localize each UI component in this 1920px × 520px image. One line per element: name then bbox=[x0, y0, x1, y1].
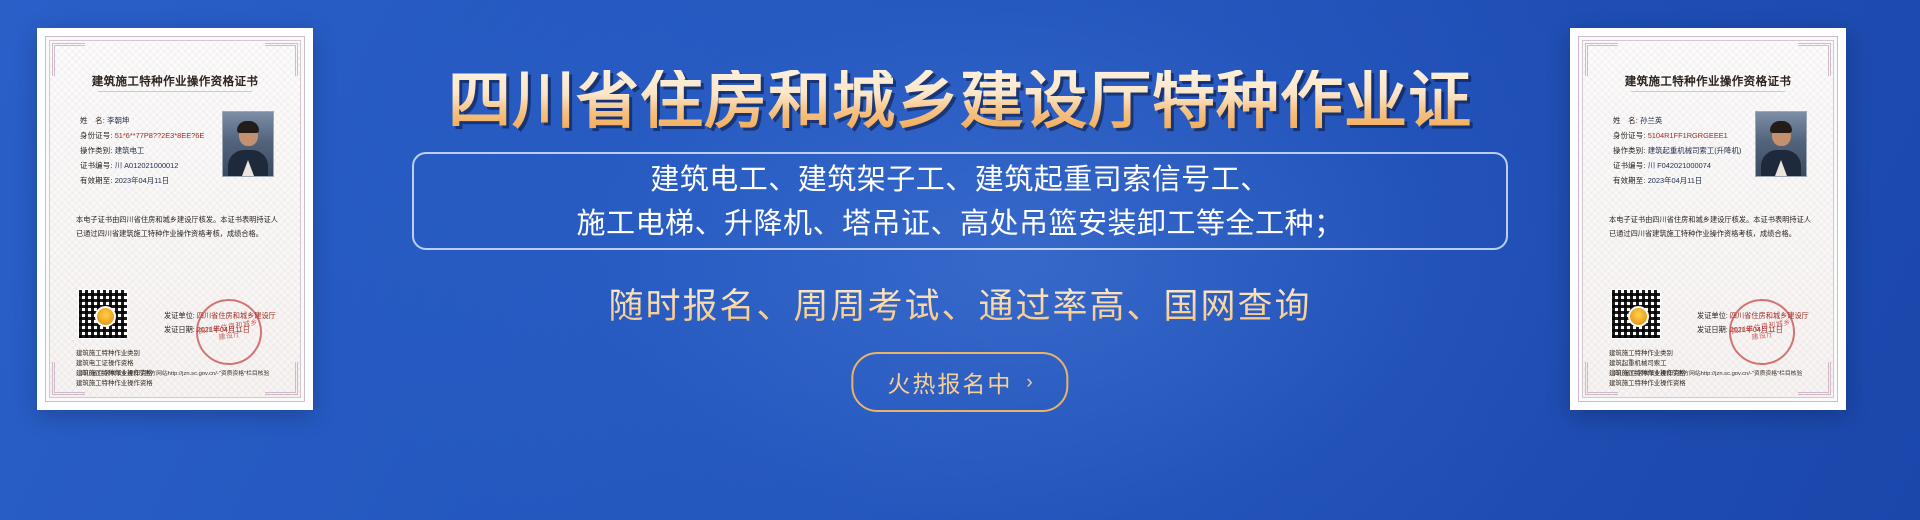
certificate-body-text: 本电子证书由四川省住房和城乡建设厅核发。本证书表明持证人已通过四川省建筑施工特种… bbox=[76, 213, 278, 241]
certificate-title-rule bbox=[98, 91, 252, 92]
field-value-validity: 2023年04月11日 bbox=[115, 176, 170, 185]
corner-ornament-icon bbox=[265, 362, 298, 395]
certificate-portrait-photo bbox=[222, 111, 274, 177]
banner-center-content: 四川省住房和城乡建设厅特种作业证 建筑电工、建筑架子工、建筑起重司索信号工、 施… bbox=[360, 0, 1560, 520]
field-label-certno: 证书编号: bbox=[1613, 161, 1646, 170]
issue-date-label: 发证日期: bbox=[1697, 325, 1728, 334]
certificate-verify-note: 四川省住房和城乡建设厅官方网站http://jzn.sc.gov.cn/-"资质… bbox=[46, 368, 304, 377]
certificate-card-left: 建筑施工特种作业操作资格证书 姓 名: 李朝坤 身份证号: 51*6**77P8… bbox=[37, 28, 313, 410]
certificate-portrait-photo bbox=[1755, 111, 1807, 177]
field-label-category: 操作类别: bbox=[80, 146, 113, 155]
course-list-box: 建筑电工、建筑架子工、建筑起重司索信号工、 施工电梯、升降机、塔吊证、高处吊篮安… bbox=[412, 152, 1508, 250]
selling-points-line: 随时报名、周周考试、通过率高、国网查询 bbox=[360, 278, 1560, 329]
issuer-label: 发证单位: bbox=[164, 311, 195, 320]
field-value-id: 5104R1FF1RGRGEEE1 bbox=[1648, 131, 1728, 140]
issuer-label: 发证单位: bbox=[1697, 311, 1728, 320]
footer-list-item: 建筑施工特种作业操作资格 bbox=[1609, 379, 1686, 389]
portrait-hair-icon bbox=[237, 121, 259, 133]
corner-ornament-icon bbox=[1585, 43, 1618, 76]
portrait-hair-icon bbox=[1770, 121, 1792, 133]
enroll-now-button[interactable]: 火热报名中 › bbox=[851, 352, 1068, 412]
certificate-title-rule bbox=[1631, 91, 1785, 92]
corner-ornament-icon bbox=[265, 43, 298, 76]
footer-list-item: 建筑施工特种作业操作资格 bbox=[76, 379, 153, 389]
field-label-validity: 有效期至: bbox=[80, 176, 113, 185]
qr-code-icon bbox=[1611, 289, 1661, 339]
footer-list-item: 建筑施工特种作业类别 bbox=[1609, 349, 1686, 359]
course-list-line-2: 施工电梯、升降机、塔吊证、高处吊篮安装卸工等全工种； bbox=[414, 202, 1506, 246]
certificate-inner-frame: 建筑施工特种作业操作资格证书 姓 名: 孙兰英 身份证号: 5104R1FF1R… bbox=[1578, 36, 1838, 402]
qr-center-logo-icon bbox=[95, 306, 116, 327]
official-seal-icon: 四川省住房和城乡建设厅 bbox=[191, 294, 267, 370]
footer-list-item: 建筑施工特种作业类别 bbox=[76, 349, 153, 359]
certificate-title: 建筑施工特种作业操作资格证书 bbox=[1579, 73, 1837, 89]
official-seal-icon: 四川省住房和城乡建设厅 bbox=[1724, 294, 1800, 370]
issue-date-label: 发证日期: bbox=[164, 325, 195, 334]
field-value-category: 建筑起重机械司索工(升降机) bbox=[1648, 146, 1742, 155]
chevron-right-icon: › bbox=[1026, 373, 1032, 392]
field-value-certno: 川 F042021000074 bbox=[1648, 161, 1711, 170]
corner-ornament-icon bbox=[1798, 43, 1831, 76]
certificate-inner-frame: 建筑施工特种作业操作资格证书 姓 名: 李朝坤 身份证号: 51*6**77P8… bbox=[45, 36, 305, 402]
field-label-category: 操作类别: bbox=[1613, 146, 1646, 155]
promo-banner: 建筑施工特种作业操作资格证书 姓 名: 李朝坤 身份证号: 51*6**77P8… bbox=[0, 0, 1920, 520]
field-label-name: 姓 名: bbox=[80, 116, 105, 125]
field-value-name: 孙兰英 bbox=[1640, 116, 1662, 125]
field-label-id: 身份证号: bbox=[80, 131, 113, 140]
qr-center-logo-icon bbox=[1628, 306, 1649, 327]
certificate-verify-note: 四川省住房和城乡建设厅官方网站http://jzn.sc.gov.cn/-"资质… bbox=[1579, 368, 1837, 377]
enroll-now-label: 火热报名中 bbox=[887, 365, 1012, 399]
field-value-category: 建筑电工 bbox=[115, 146, 145, 155]
certificate-body-text: 本电子证书由四川省住房和城乡建设厅核发。本证书表明持证人已通过四川省建筑施工特种… bbox=[1609, 213, 1811, 241]
certificate-card-right: 建筑施工特种作业操作资格证书 姓 名: 孙兰英 身份证号: 5104R1FF1R… bbox=[1570, 28, 1846, 410]
certificate-fields: 姓 名: 李朝坤 身份证号: 51*6**77P8??2E3*8EE?6E 操作… bbox=[80, 113, 230, 188]
certificate-title: 建筑施工特种作业操作资格证书 bbox=[46, 73, 304, 89]
field-label-certno: 证书编号: bbox=[80, 161, 113, 170]
corner-ornament-icon bbox=[1798, 362, 1831, 395]
field-value-id: 51*6**77P8??2E3*8EE?6E bbox=[115, 131, 205, 140]
field-label-validity: 有效期至: bbox=[1613, 176, 1646, 185]
field-label-name: 姓 名: bbox=[1613, 116, 1638, 125]
page-title: 四川省住房和城乡建设厅特种作业证 bbox=[360, 70, 1560, 133]
field-value-certno: 川 A012021000012 bbox=[115, 161, 179, 170]
certificate-fields: 姓 名: 孙兰英 身份证号: 5104R1FF1RGRGEEE1 操作类别: 建… bbox=[1613, 113, 1763, 188]
qr-code-icon bbox=[78, 289, 128, 339]
field-label-id: 身份证号: bbox=[1613, 131, 1646, 140]
corner-ornament-icon bbox=[52, 43, 85, 76]
course-list-line-1: 建筑电工、建筑架子工、建筑起重司索信号工、 bbox=[414, 158, 1506, 202]
field-value-validity: 2023年04月11日 bbox=[1648, 176, 1703, 185]
field-value-name: 李朝坤 bbox=[107, 116, 129, 125]
